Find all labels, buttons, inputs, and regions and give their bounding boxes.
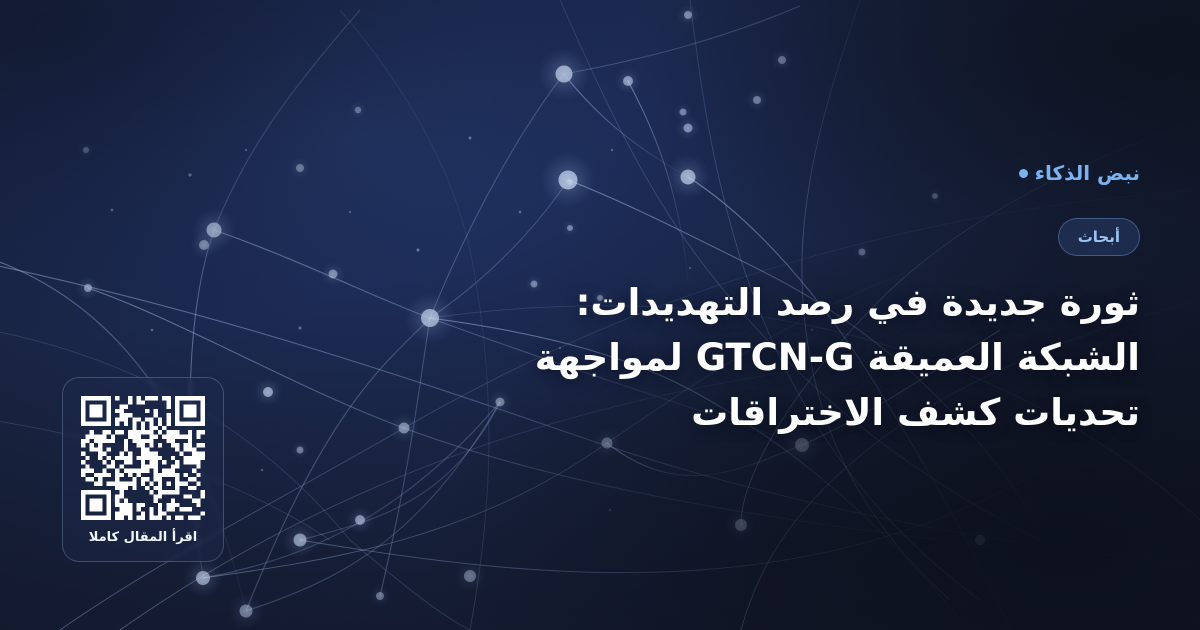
brand-name: نبض الذكاء: [1035, 163, 1140, 183]
category-badge-label: أبحاث: [1078, 230, 1120, 245]
bullet-dot-icon: [1019, 169, 1028, 178]
page-title: ثورة جديدة في رصد التهديدات: الشبكة العم…: [440, 276, 1140, 440]
category-badge[interactable]: أبحاث: [1058, 218, 1140, 256]
qr-code-icon: [81, 396, 205, 520]
qr-cta-card[interactable]: اقرأ المقال كاملا: [62, 377, 224, 562]
qr-cta-label: اقرأ المقال كاملا: [89, 531, 198, 544]
social-card-canvas: نبض الذكاء أبحاث ثورة جديدة في رصد التهد…: [0, 0, 1200, 630]
brand-lockup: نبض الذكاء: [1019, 163, 1140, 183]
qr-modules: [81, 396, 205, 520]
